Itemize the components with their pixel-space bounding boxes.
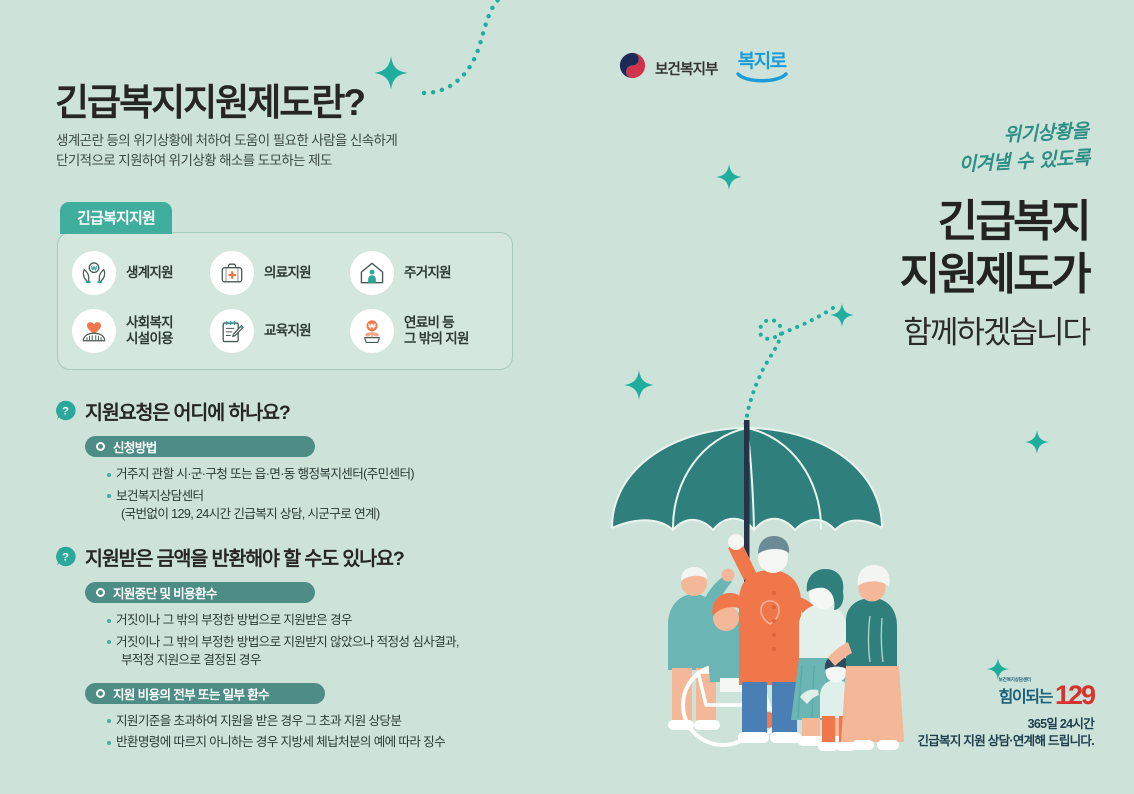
page-title: 긴급복지지원제도란? [55,72,364,126]
sparkle-icon [624,370,654,400]
left-column: 긴급복지지원제도란? 생계곤란 등의 위기상황에 처하여 도움이 필요한 사람을… [0,0,560,794]
hero-title-line-2: 지원제도가 [900,248,1089,301]
notepad-pencil-icon [210,309,254,353]
support-item-livelihood: ₩ 생계지원 [72,251,210,295]
call-center-caption: 보건복지상담센터 [999,677,1052,683]
bullet-line-1: 거주지 관할 시·군·구청 또는 읍·면·동 행정복지센터(주민센터) [116,467,414,481]
list-item: 거짓이나 그 밖의 부정한 방법으로 지원받은 경우 [116,611,459,630]
support-item-welfare-facility: 사회복지 시설이용 [72,309,210,353]
bullet-line-1: 보건복지상담센터 [116,489,204,503]
qa-group-pill-label: 신청방법 [113,437,157,456]
subtitle-line-1: 생계곤란 등의 위기상황에 처하여 도움이 필요한 사람을 신속하게 [56,131,397,151]
page-subtitle: 생계곤란 등의 위기상황에 처하여 도움이 필요한 사람을 신속하게 단기적으로… [56,131,397,171]
support-types-card: 긴급복지지원 ₩ [57,202,513,370]
family-under-umbrella-illustration [602,420,932,760]
svg-text:₩: ₩ [368,322,376,331]
bullet-line-2: (국번없이 129, 24시간 긴급복지 상담, 시군구로 연계) [116,505,414,524]
support-item-label: 사회복지 시설이용 [126,315,173,347]
qa-bullet-list: 지원기준을 초과하여 지원을 받은 경우 그 초과 지원 상당분 반환명령에 따… [85,712,459,752]
qa-bullet-list: 거주지 관할 시·군·구청 또는 읍·면·동 행정복지센터(주민센터) 보건복지… [85,465,414,524]
tagline-script: 위기상황을 이겨낼 수 있도록 [957,118,1091,179]
svg-text:₩: ₩ [91,265,97,272]
bullet-line-1: 지원기준을 초과하여 지원을 받은 경우 그 초과 지원 상당분 [116,714,401,728]
support-types-grid: ₩ 생계지원 [57,232,513,370]
support-item-label: 생계지원 [126,265,173,281]
sparkle-icon [1025,430,1049,454]
tagline-line-2: 이겨낼 수 있도록 [958,145,1090,179]
hands-holding-money-icon: ₩ [72,251,116,295]
qa-question: 지원받은 금액을 반환해야 할 수도 있나요? [85,542,404,571]
support-item-label: 교육지원 [264,323,311,339]
qa-heading: ? 지원요청은 어디에 하나요? [55,396,414,425]
support-item-label: 주거지원 [404,265,451,281]
support-item-medical: 의료지원 [210,251,350,295]
support-item-label-line2: 시설이용 [126,331,173,346]
list-item: 지원기준을 초과하여 지원을 받은 경우 그 초과 지원 상당분 [116,712,459,731]
bullet-line-2: 부적정 지원으로 결정된 경우 [116,651,459,670]
question-mark-icon: ? [55,400,76,421]
svg-text:?: ? [62,405,69,417]
support-item-label: 의료지원 [264,265,311,281]
support-item-housing: 주거지원 [350,251,502,295]
support-item-label-line1: 사회복지 [126,315,173,330]
hero-subtitle: 함께하겠습니다 [903,307,1089,352]
list-item: 보건복지상담센터 (국번없이 129, 24시간 긴급복지 상담, 시군구로 연… [116,487,414,524]
qa-group-pill-label: 지원중단 및 비용환수 [113,583,217,602]
bokjiro-logo: 복지로 [736,52,788,84]
call-center-hours-line-2: 긴급복지 지원 상담·연계해 드립니다. [917,733,1094,750]
qa-question: 지원요청은 어디에 하나요? [85,396,290,425]
list-item: 반환명령에 따르지 아니하는 경우 지방세 체납처분의 예에 따라 징수 [116,733,459,752]
bullet-line-1: 반환명령에 따르지 아니하는 경우 지방세 체납처분의 예에 따라 징수 [116,735,445,749]
qa-group-pill-label: 지원 비용의 전부 또는 일부 환수 [113,684,269,703]
question-mark-icon: ? [55,546,76,567]
ring-icon [96,588,105,597]
call-center-hours: 365일 24시간 긴급복지 지원 상담·연계해 드립니다. [917,716,1094,750]
svg-text:?: ? [62,551,69,563]
mohw-logo: 보건복지부 [619,52,718,84]
card-tab-label: 긴급복지지원 [60,202,172,234]
bokjiro-label: 복지로 [738,52,786,72]
ring-icon [96,689,105,698]
call-center-hours-line-1: 365일 24시간 [917,716,1094,733]
hands-heart-icon [72,309,116,353]
list-item: 거짓이나 그 밖의 부정한 방법으로 지원받지 않았으나 적정성 심사결과, 부… [116,633,459,670]
qa-heading: ? 지원받은 금액을 반환해야 할 수도 있나요? [55,542,459,571]
hero-title: 긴급복지 지원제도가 [900,195,1089,301]
qa-block-application: ? 지원요청은 어디에 하나요? 신청방법 거주지 관할 시·군·구청 또는 읍… [55,396,414,527]
support-item-fuel-other: ₩ 연료비 등 그 밖의 지원 [350,309,502,353]
house-person-icon [350,251,394,295]
qa-block-refund: ? 지원받은 금액을 반환해야 할 수도 있나요? 지원중단 및 비용환수 거짓… [55,542,459,755]
sparkle-icon [716,164,742,190]
government-logos: 보건복지부 복지로 [619,52,788,84]
money-plant-icon: ₩ [350,309,394,353]
hero-title-line-1: 긴급복지 [900,195,1089,248]
ring-icon [96,442,105,451]
bokjiro-smile-icon [736,72,788,84]
call-center-footer: 보건복지상담센터 힘이되는 129 365일 24시간 긴급복지 지원 상담·연… [917,677,1094,750]
129-logo-word: 힘이되는 [999,689,1052,706]
taegeuk-icon [619,52,646,84]
list-item: 거주지 관할 시·군·구청 또는 읍·면·동 행정복지센터(주민센터) [116,465,414,484]
support-item-label: 연료비 등 그 밖의 지원 [404,315,469,347]
medical-kit-icon [210,251,254,295]
qa-group-pill: 지원 비용의 전부 또는 일부 환수 [85,683,325,704]
bullet-line-1: 거짓이나 그 밖의 부정한 방법으로 지원받지 않았으나 적정성 심사결과, [116,635,459,649]
poster-canvas: 긴급복지지원제도란? 생계곤란 등의 위기상황에 처하여 도움이 필요한 사람을… [0,0,1134,794]
sparkle-icon [830,303,854,327]
subtitle-line-2: 단기적으로 지원하여 위기상황 해소를 도모하는 제도 [56,151,397,171]
support-item-label-line1: 연료비 등 [404,315,454,330]
129-logo: 보건복지상담센터 힘이되는 129 [917,677,1094,707]
support-item-education: 교육지원 [210,309,350,353]
bullet-line-1: 거짓이나 그 밖의 부정한 방법으로 지원받은 경우 [116,613,352,627]
qa-bullet-list: 거짓이나 그 밖의 부정한 방법으로 지원받은 경우 거짓이나 그 밖의 부정한… [85,611,459,670]
mohw-label: 보건복지부 [655,58,718,79]
support-item-label-line2: 그 밖의 지원 [404,331,469,346]
129-logo-number: 129 [1055,683,1094,707]
qa-group-pill: 신청방법 [85,436,315,457]
qa-group-pill: 지원중단 및 비용환수 [85,582,315,603]
